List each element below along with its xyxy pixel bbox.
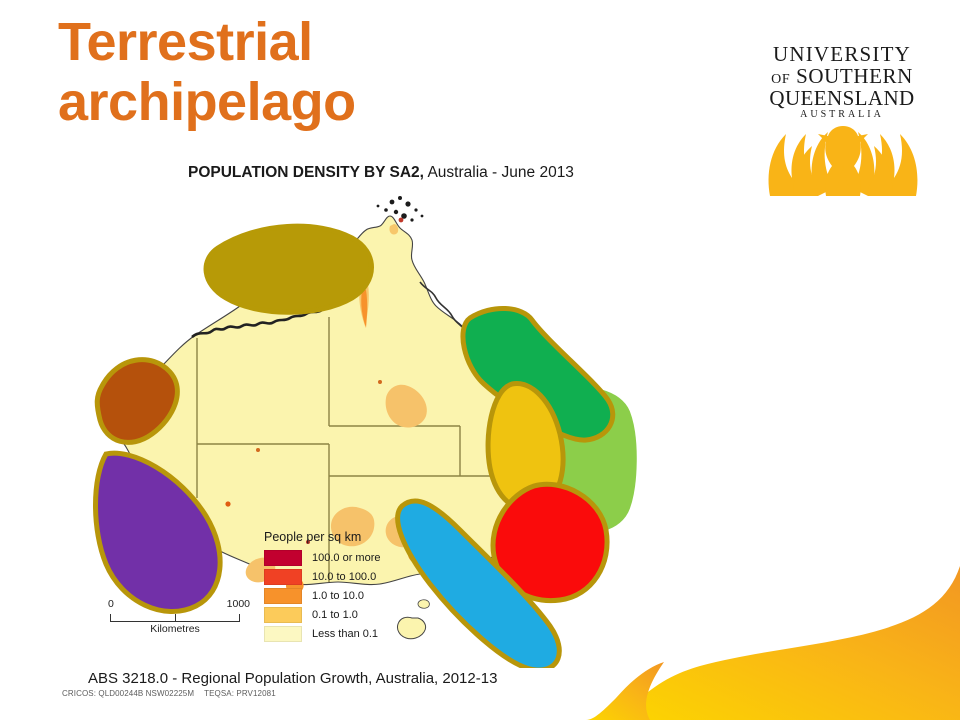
legend-label: Less than 0.1 bbox=[312, 628, 378, 640]
legend-title: People per sq km bbox=[264, 530, 444, 544]
map-legend: People per sq km 100.0 or more 10.0 to 1… bbox=[264, 530, 444, 644]
scalebar-max: 1000 bbox=[227, 598, 250, 610]
population-density-map-figure: POPULATION DENSITY BY SA2, Australia - J… bbox=[60, 158, 680, 668]
map-title-rest: Australia - June 2013 bbox=[424, 164, 574, 181]
legend-item: 1.0 to 10.0 bbox=[264, 587, 444, 604]
phoenix-icon bbox=[764, 104, 922, 198]
cape-york-islands bbox=[377, 196, 424, 222]
legend-swatch-100-or-more bbox=[264, 550, 302, 566]
map-title: POPULATION DENSITY BY SA2, Australia - J… bbox=[188, 164, 574, 182]
scalebar-tick-end bbox=[239, 614, 240, 621]
page-title: Terrestrial archipelago bbox=[58, 12, 678, 133]
torres-strait-detail bbox=[399, 218, 404, 223]
legend-swatch-10-to-100 bbox=[264, 569, 302, 585]
legend-swatch-less-than-0-1 bbox=[264, 626, 302, 642]
legend-label: 0.1 to 1.0 bbox=[312, 609, 358, 621]
legend-item: Less than 0.1 bbox=[264, 625, 444, 642]
map-title-bold: POPULATION DENSITY BY SA2, bbox=[188, 164, 424, 181]
legend-label: 100.0 or more bbox=[312, 552, 380, 564]
legend-item: 0.1 to 1.0 bbox=[264, 606, 444, 623]
scalebar-units: Kilometres bbox=[100, 623, 250, 635]
scalebar-tick-mid bbox=[175, 614, 176, 621]
legend-swatch-1-to-10 bbox=[264, 588, 302, 604]
teqsa-code: TEQSA: PRV12081 bbox=[204, 689, 276, 698]
legend-item: 100.0 or more bbox=[264, 549, 444, 566]
map-scalebar: 0 1000 Kilometres bbox=[100, 598, 250, 635]
legend-swatch-0-1-to-1 bbox=[264, 607, 302, 623]
scalebar-min: 0 bbox=[108, 598, 114, 610]
cricos-qld: QLD00244B bbox=[98, 689, 143, 698]
olive-blob-north-west bbox=[206, 226, 371, 312]
usq-logo: UNIVERSITY OF SOUTHERN QUEENSLAND AUSTRA… bbox=[758, 30, 926, 198]
legend-item: 10.0 to 100.0 bbox=[264, 568, 444, 585]
source-caption: ABS 3218.0 - Regional Population Growth,… bbox=[88, 668, 528, 690]
cricos-nsw: NSW02225M bbox=[146, 689, 194, 698]
logo-of-text: OF bbox=[771, 72, 790, 87]
slide-canvas: Terrestrial archipelago UNIVERSITY OF SO… bbox=[0, 0, 960, 720]
cricos-label: CRICOS: bbox=[62, 689, 96, 698]
legend-label: 10.0 to 100.0 bbox=[312, 571, 376, 583]
scalebar-tick-start bbox=[110, 614, 111, 621]
logo-southern-text: SOUTHERN bbox=[796, 64, 913, 88]
legend-label: 1.0 to 10.0 bbox=[312, 590, 364, 602]
cricos-footer: CRICOS: QLD00244B NSW02225MTEQSA: PRV120… bbox=[62, 689, 276, 698]
